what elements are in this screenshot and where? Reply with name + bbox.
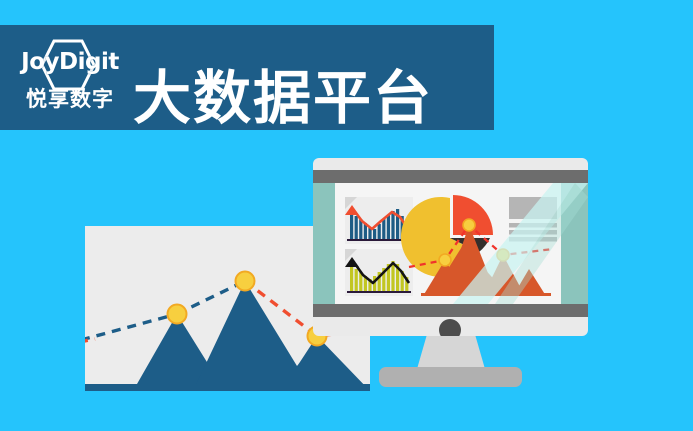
- desktop-monitor: [313, 158, 588, 388]
- illustration-canvas: JoyDigit 悦享数字 大数据平台: [0, 0, 693, 431]
- trend-marker: [168, 305, 187, 324]
- bar-chart-card-yellow: [345, 249, 413, 296]
- page-title: 大数据平台: [133, 69, 433, 127]
- monitor-screen: [313, 183, 588, 304]
- brand-logo: JoyDigit 悦享数字: [14, 37, 126, 119]
- trend-marker: [463, 219, 475, 231]
- logo-wordmark: JoyDigit: [14, 51, 126, 74]
- header-banner: JoyDigit 悦享数字 大数据平台: [0, 25, 494, 130]
- logo-subtitle: 悦享数字: [14, 89, 126, 110]
- screen-left-panel: [313, 183, 335, 304]
- dashboard-svg: [313, 183, 588, 304]
- trend-marker: [439, 254, 451, 266]
- monitor-top-bar: [313, 170, 588, 183]
- trend-line-left-start: [85, 339, 95, 342]
- monitor-bottom-bar: [313, 304, 588, 317]
- trend-marker: [236, 272, 255, 291]
- trend-line-left: [85, 314, 177, 340]
- monitor-stand-neck: [417, 336, 485, 369]
- monitor-stand-base: [379, 367, 522, 387]
